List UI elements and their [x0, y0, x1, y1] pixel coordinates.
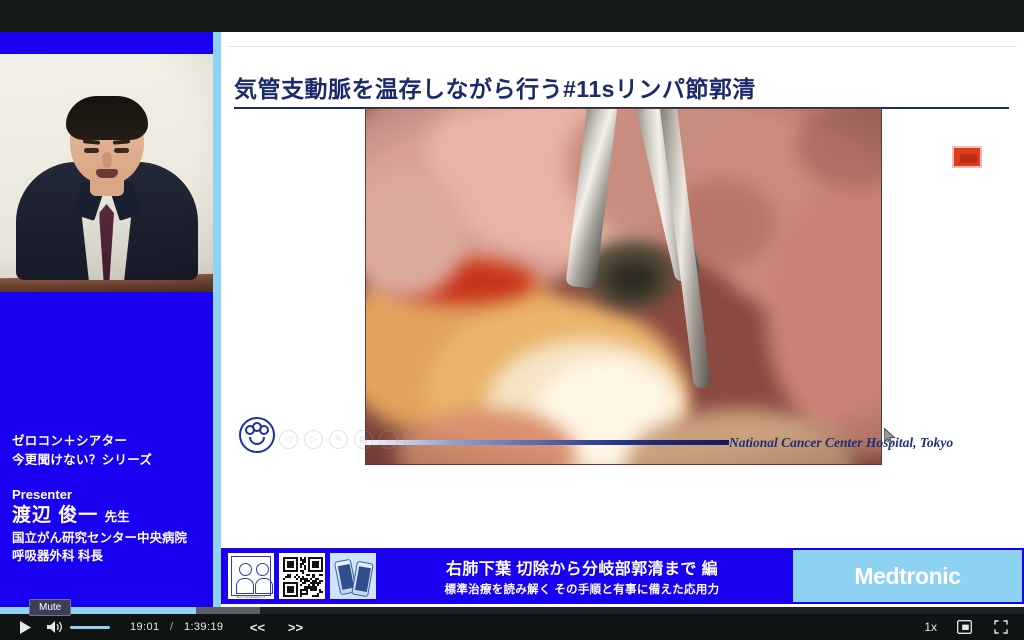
presenter-name: 渡辺 俊一 先生	[12, 504, 212, 529]
series-line-2: 今更聞けない？シリーズ	[12, 451, 212, 470]
slide-area: 気管支動脈を温存しながら行う#11sリンパ節郭清	[221, 32, 1024, 607]
play-icon[interactable]	[10, 621, 40, 634]
tool-notes-icon[interactable]: ▤	[354, 430, 373, 449]
program-banner: Zero Complications ® 右肺下葉 切除から分岐部郭清まで 編 …	[221, 548, 1024, 604]
time-separator: /	[170, 621, 173, 633]
banner-text-block: 右肺下葉 切除から分岐部郭清まで 編 標準治療を読み解く その手順と有事に備えた…	[371, 555, 793, 597]
presenter-honorific: 先生	[105, 510, 130, 524]
presenter-info: ゼロコン＋シアター 今更聞けない？シリーズ Presenter 渡辺 俊一 先生…	[12, 432, 212, 565]
mouse-cursor	[884, 428, 896, 446]
slide-tool-overlay[interactable]: ◁ ▷ ✎ ▤ ◎ …	[279, 430, 423, 449]
rewind-button[interactable]: <<	[245, 620, 269, 635]
video-player-app: ゼロコン＋シアター 今更聞けない？シリーズ Presenter 渡辺 俊一 先生…	[0, 0, 1024, 640]
picture-in-picture-icon[interactable]	[957, 620, 972, 634]
surgical-photo	[365, 108, 882, 465]
playback-speed-button[interactable]: 1x	[924, 620, 937, 634]
top-black-bar	[0, 0, 1024, 32]
presenter-name-text: 渡辺 俊一	[12, 505, 98, 526]
volume-icon[interactable]	[40, 620, 68, 634]
time-display: 19:01 / 1:39:19	[130, 621, 223, 633]
affiliation-line-1: 国立がん研究センター中央病院	[12, 529, 212, 547]
webcam-vignette	[0, 54, 213, 292]
presenter-label: Presenter	[12, 487, 212, 502]
banner-icon-group: Zero Complications ®	[227, 552, 377, 600]
video-stage[interactable]: ゼロコン＋シアター 今更聞けない？シリーズ Presenter 渡辺 俊一 先生…	[0, 32, 1024, 607]
tool-pen-icon[interactable]: ✎	[329, 430, 348, 449]
presenter-sidebar: ゼロコン＋シアター 今更聞けない？シリーズ Presenter 渡辺 俊一 先生…	[0, 32, 213, 607]
banner-title: 右肺下葉 切除から分岐部郭清まで 編	[371, 555, 793, 579]
presenter-webcam-feed	[0, 54, 213, 292]
banner-subtitle: 標準治療を読み解く その手順と有事に備えた応用力	[371, 581, 793, 597]
seek-bar[interactable]	[0, 607, 1024, 614]
slide-title: 気管支動脈を温存しながら行う#11sリンパ節郭清	[234, 70, 1009, 109]
zero-complications-logo: Zero Complications ®	[227, 552, 275, 600]
national-cancer-center-logo	[239, 417, 275, 453]
duration: 1:39:19	[184, 621, 224, 633]
forward-button[interactable]: >>	[283, 620, 307, 635]
panel-divider	[213, 32, 221, 607]
player-controls: 19:01 / 1:39:19 << >> 1x	[0, 614, 1024, 640]
slide-top-rule	[228, 46, 1017, 47]
series-line-1: ゼロコン＋シアター	[12, 432, 212, 451]
medtronic-logo: Medtronic	[793, 550, 1022, 602]
current-time: 19:01	[130, 621, 160, 633]
zero-complications-caption: Zero Complications ®	[228, 595, 274, 599]
logo-inner	[245, 425, 269, 445]
smartphone-app-preview	[329, 552, 377, 600]
affiliation-line-2: 呼吸器外科 科長	[12, 547, 212, 565]
tool-zoom-icon[interactable]: ◎	[379, 430, 398, 449]
mute-tooltip: Mute	[29, 599, 71, 616]
qr-code[interactable]	[278, 552, 326, 600]
volume-slider[interactable]	[70, 626, 110, 629]
photo-vignette	[366, 109, 881, 464]
tool-prev-icon[interactable]: ◁	[279, 430, 298, 449]
fullscreen-icon[interactable]	[994, 620, 1008, 634]
tool-next-icon[interactable]: ▷	[304, 430, 323, 449]
hospital-credit: National Cancer Center Hospital, Tokyo	[729, 435, 953, 451]
tool-more-icon[interactable]: …	[404, 430, 423, 449]
red-marker-button[interactable]	[952, 146, 982, 168]
